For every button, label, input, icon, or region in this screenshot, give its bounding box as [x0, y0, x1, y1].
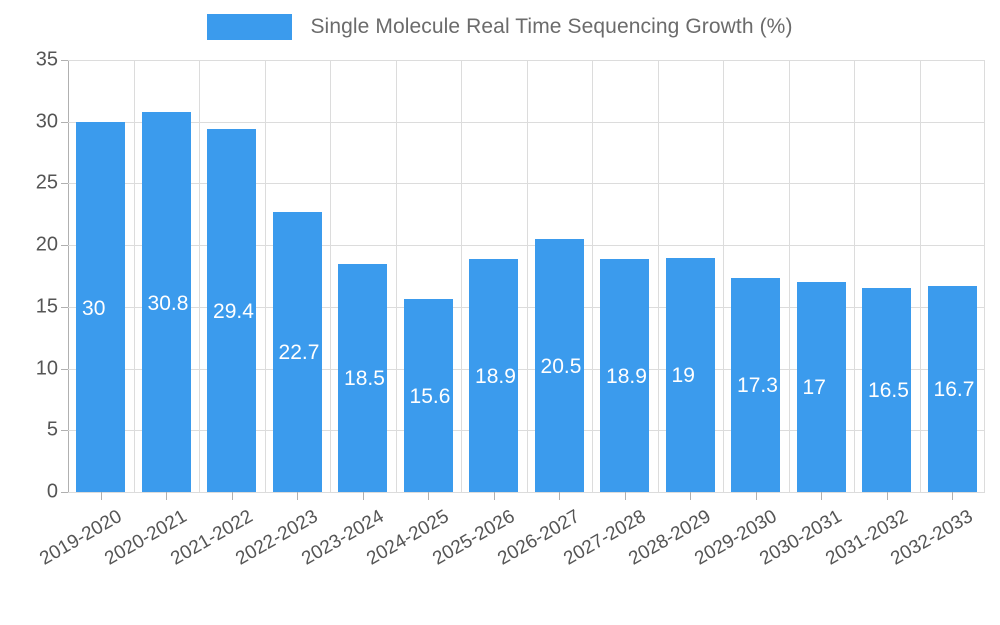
gridline-vertical	[396, 60, 397, 492]
x-axis-tick	[887, 492, 888, 500]
bar-value-label: 29.4	[213, 300, 254, 324]
bar-value-label: 18.9	[475, 365, 516, 389]
bar-value-label: 18.9	[606, 365, 647, 389]
gridline-vertical	[461, 60, 462, 492]
gridline-vertical	[330, 60, 331, 492]
x-axis-tick	[232, 492, 233, 500]
gridline-vertical	[658, 60, 659, 492]
y-axis-tick-label: 5	[47, 419, 58, 442]
x-axis-tick	[363, 492, 364, 500]
legend-color-swatch	[207, 14, 292, 40]
plot-area: 3030.829.422.718.515.618.920.518.91917.3…	[68, 60, 985, 492]
x-axis-tick	[756, 492, 757, 500]
gridline-vertical	[984, 60, 985, 492]
x-axis-tick	[625, 492, 626, 500]
y-axis-tick	[61, 369, 68, 370]
gridline-horizontal	[68, 492, 985, 493]
bar-value-label: 20.5	[541, 355, 582, 379]
gridline-vertical	[134, 60, 135, 492]
bar-value-label: 30	[82, 297, 105, 321]
y-axis-tick	[61, 122, 68, 123]
y-axis-tick-label: 30	[36, 110, 58, 133]
gridline-vertical	[592, 60, 593, 492]
bar-value-label: 18.5	[344, 367, 385, 391]
bar-value-label: 17	[803, 376, 826, 400]
y-axis-tick	[61, 492, 68, 493]
gridline-vertical	[920, 60, 921, 492]
x-axis-tick	[821, 492, 822, 500]
gridline-vertical	[789, 60, 790, 492]
x-axis-tick	[428, 492, 429, 500]
gridline-vertical	[527, 60, 528, 492]
legend-item[interactable]: Single Molecule Real Time Sequencing Gro…	[207, 14, 792, 40]
y-axis-tick-label: 35	[36, 49, 58, 72]
chart-legend: Single Molecule Real Time Sequencing Gro…	[0, 10, 1000, 44]
x-axis-tick	[494, 492, 495, 500]
bar-value-label: 19	[672, 364, 695, 388]
bar-chart: Single Molecule Real Time Sequencing Gro…	[0, 0, 1000, 600]
bar-value-label: 16.5	[868, 379, 909, 403]
bar-value-label: 22.7	[279, 341, 320, 365]
y-axis-tick-label: 25	[36, 172, 58, 195]
gridline-vertical	[854, 60, 855, 492]
y-axis-tick	[61, 430, 68, 431]
y-axis-tick	[61, 307, 68, 308]
x-axis-tick	[166, 492, 167, 500]
x-axis-tick	[297, 492, 298, 500]
y-axis-tick	[61, 60, 68, 61]
y-axis-tick-label: 0	[47, 481, 58, 504]
y-axis-tick	[61, 245, 68, 246]
bar-value-label: 16.7	[934, 378, 975, 402]
legend-label: Single Molecule Real Time Sequencing Gro…	[310, 15, 792, 39]
bar-value-label: 30.8	[148, 292, 189, 316]
gridline-vertical	[199, 60, 200, 492]
x-axis-tick	[101, 492, 102, 500]
x-axis-tick	[952, 492, 953, 500]
gridline-vertical	[723, 60, 724, 492]
y-axis-tick-label: 10	[36, 357, 58, 380]
y-axis-tick-label: 20	[36, 234, 58, 257]
bar-value-label: 17.3	[737, 374, 778, 398]
bar-value-label: 15.6	[410, 385, 451, 409]
x-axis-tick	[690, 492, 691, 500]
gridline-vertical	[265, 60, 266, 492]
y-axis-tick	[61, 183, 68, 184]
y-axis-tick-label: 15	[36, 295, 58, 318]
x-axis-tick	[559, 492, 560, 500]
